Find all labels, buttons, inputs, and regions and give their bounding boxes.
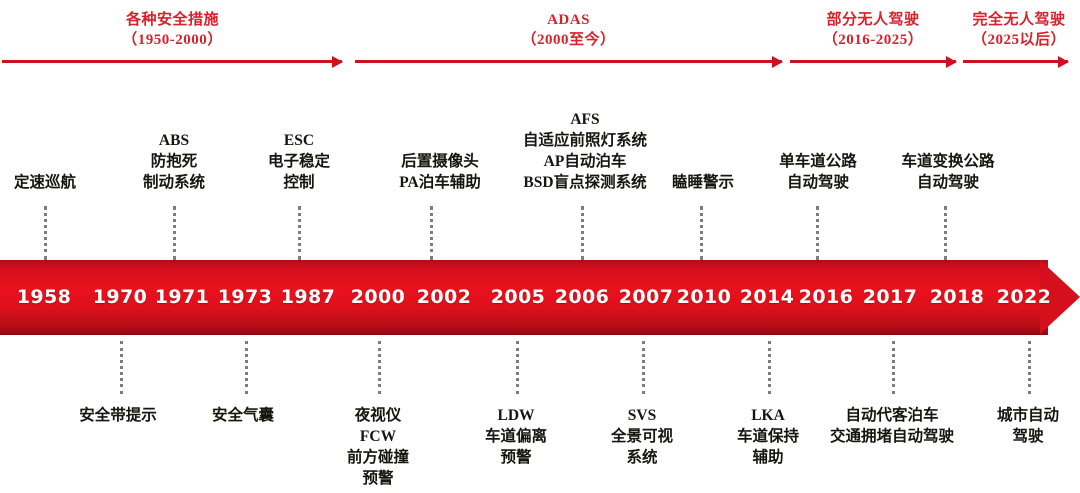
event-above-1958: 定速巡航 — [14, 172, 76, 193]
year-label: 2017 — [863, 286, 917, 308]
year-label: 1958 — [17, 286, 71, 308]
event-line: 自动代客泊车 — [830, 405, 954, 426]
event-line: 预警 — [485, 447, 547, 468]
event-above-2018: 车道变换公路 自动驾驶 — [901, 151, 994, 193]
event-below-2005: LDW 车道偏离 预警 — [485, 405, 547, 468]
event-line: 制动系统 — [143, 172, 205, 193]
year-label: 2002 — [417, 286, 471, 308]
event-below-2017: 自动代客泊车 交通拥堵自动驾驶 — [830, 405, 954, 447]
connector-above-1971 — [173, 206, 176, 260]
connector-above-2006 — [581, 206, 584, 260]
connector-above-2010 — [700, 206, 703, 260]
connector-below-1973 — [245, 341, 248, 394]
event-line: LKA — [737, 405, 799, 426]
era-3-name: 部分无人驾驶 — [826, 12, 919, 28]
connector-below-2005 — [516, 341, 519, 394]
connector-below-2017 — [892, 341, 895, 394]
event-line: BSD盲点探测系统 — [523, 172, 647, 193]
event-line: 单车道公路 — [779, 151, 857, 172]
event-line: 夜视仪 — [347, 405, 409, 426]
era-label-4: 完全无人驾驶 （2025以后） — [958, 10, 1080, 50]
event-line: 后置摄像头 — [399, 151, 481, 172]
event-line: 预警 — [347, 468, 409, 489]
event-line: 电子稳定 — [268, 151, 330, 172]
event-line: 安全带提示 — [79, 405, 157, 426]
event-line: ABS — [143, 130, 205, 151]
year-label: 2005 — [491, 286, 545, 308]
event-line: 全景可视 — [611, 426, 673, 447]
event-above-2016: 单车道公路 自动驾驶 — [779, 151, 857, 193]
event-above-2002: 后置摄像头 PA泊车辅助 — [399, 151, 481, 193]
year-label: 2022 — [997, 286, 1051, 308]
connector-above-1958 — [44, 206, 47, 260]
event-below-1970: 安全带提示 — [79, 405, 157, 426]
event-below-2022: 城市自动 驾驶 — [997, 405, 1059, 447]
event-below-1973: 安全气囊 — [212, 405, 274, 426]
event-line: 防抱死 — [143, 151, 205, 172]
event-below-2014: LKA 车道保持 辅助 — [737, 405, 799, 468]
event-line: 自动驾驶 — [779, 172, 857, 193]
connector-above-2002 — [430, 206, 433, 260]
year-label: 1973 — [218, 286, 272, 308]
year-label: 2018 — [930, 286, 984, 308]
era-arrow-4 — [963, 60, 1068, 63]
connector-above-1987 — [298, 206, 301, 260]
event-line: 辅助 — [737, 447, 799, 468]
connector-above-2016 — [816, 206, 819, 260]
event-line: 城市自动 — [997, 405, 1059, 426]
era-2-name: ADAS — [547, 12, 590, 28]
connector-below-1970 — [120, 341, 123, 394]
year-label: 2016 — [799, 286, 853, 308]
connector-below-2000 — [378, 341, 381, 394]
event-line: 车道变换公路 — [901, 151, 994, 172]
era-arrow-3 — [790, 60, 956, 63]
event-above-1987: ESC 电子稳定 控制 — [268, 130, 330, 193]
connector-below-2014 — [768, 341, 771, 394]
year-label: 1987 — [281, 286, 335, 308]
event-line: 交通拥堵自动驾驶 — [830, 426, 954, 447]
event-line: 定速巡航 — [14, 172, 76, 193]
era-arrow-1 — [2, 60, 342, 63]
era-1-period: （1950-2000） — [0, 30, 345, 50]
event-line: SVS — [611, 405, 673, 426]
era-1-name: 各种安全措施 — [126, 12, 219, 28]
event-below-2000: 夜视仪 FCW 前方碰撞 预警 — [347, 405, 409, 489]
year-label: 1971 — [155, 286, 209, 308]
event-line: FCW — [347, 426, 409, 447]
connector-above-2018 — [944, 206, 947, 260]
event-line: 安全气囊 — [212, 405, 274, 426]
event-above-2006: AFS 自适应前照灯系统 AP自动泊车 BSD盲点探测系统 — [523, 109, 647, 193]
event-line: 驾驶 — [997, 426, 1059, 447]
event-line: 自动驾驶 — [901, 172, 994, 193]
era-label-3: 部分无人驾驶 （2016-2025） — [790, 10, 956, 50]
event-line: 瞌睡警示 — [672, 172, 734, 193]
event-line: 控制 — [268, 172, 330, 193]
event-line: PA泊车辅助 — [399, 172, 481, 193]
event-line: AFS — [523, 109, 647, 130]
year-label: 1970 — [93, 286, 147, 308]
era-4-name: 完全无人驾驶 — [972, 12, 1065, 28]
year-label: 2007 — [619, 286, 673, 308]
event-above-1971: ABS 防抱死 制动系统 — [143, 130, 205, 193]
event-above-2010: 瞌睡警示 — [672, 172, 734, 193]
event-line: LDW — [485, 405, 547, 426]
event-line: AP自动泊车 — [523, 151, 647, 172]
connector-below-2007 — [642, 341, 645, 394]
era-2-period: （2000至今） — [355, 30, 782, 50]
era-arrow-2 — [355, 60, 782, 63]
year-label: 2010 — [677, 286, 731, 308]
connector-below-2022 — [1028, 341, 1031, 394]
event-line: ESC — [268, 130, 330, 151]
year-label: 2000 — [351, 286, 405, 308]
era-label-1: 各种安全措施 （1950-2000） — [0, 10, 345, 50]
era-3-period: （2016-2025） — [790, 30, 956, 50]
year-label: 2014 — [740, 286, 794, 308]
year-label: 2006 — [555, 286, 609, 308]
event-below-2007: SVS 全景可视 系统 — [611, 405, 673, 468]
event-line: 前方碰撞 — [347, 447, 409, 468]
era-label-2: ADAS （2000至今） — [355, 10, 782, 50]
event-line: 自适应前照灯系统 — [523, 130, 647, 151]
timeline-infographic: 各种安全措施 （1950-2000） ADAS （2000至今） 部分无人驾驶 … — [0, 0, 1080, 493]
event-line: 车道偏离 — [485, 426, 547, 447]
event-line: 系统 — [611, 447, 673, 468]
era-4-period: （2025以后） — [958, 30, 1080, 50]
event-line: 车道保持 — [737, 426, 799, 447]
